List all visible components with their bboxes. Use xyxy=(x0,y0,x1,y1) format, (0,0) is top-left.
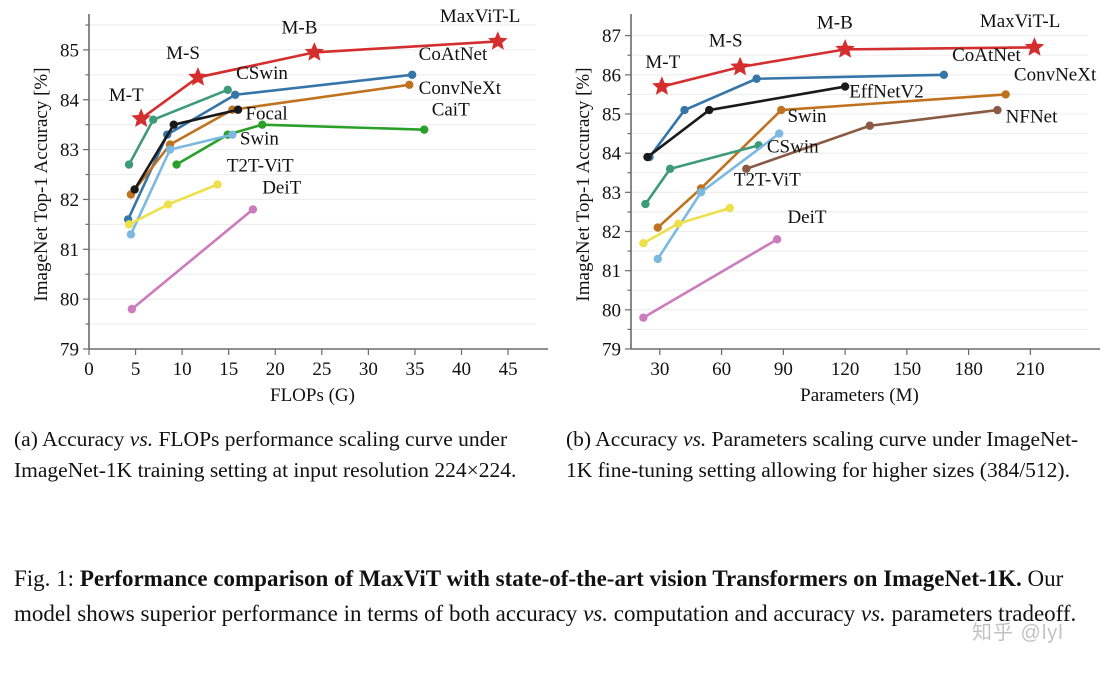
y-tick-label: 85 xyxy=(60,40,79,61)
data-point[interactable] xyxy=(641,200,649,208)
x-tick-label: 0 xyxy=(84,359,94,380)
series-line xyxy=(177,125,425,165)
chart-panel-a: 79808182838485051015202530354045FLOPs (G… xyxy=(0,0,558,410)
figure-caption-rest-3: parameters tradeoff. xyxy=(886,601,1077,626)
y-tick-label: 82 xyxy=(602,222,621,243)
series-annotation: Focal xyxy=(245,104,287,125)
series-annotation: DeiT xyxy=(787,207,826,228)
gridlines xyxy=(89,25,536,349)
y-axis-title: ImageNet Top-1 Accuracy [%] xyxy=(31,67,52,301)
data-point[interactable] xyxy=(705,106,713,114)
data-point[interactable] xyxy=(697,188,705,196)
series-line xyxy=(658,134,779,259)
y-tick-label: 81 xyxy=(60,240,79,261)
data-point-star[interactable] xyxy=(837,40,854,56)
y-axis-title: ImageNet Top-1 Accuracy [%] xyxy=(573,67,594,301)
x-tick-label: 60 xyxy=(712,359,731,380)
data-point[interactable] xyxy=(777,106,785,114)
series-annotation: DeiT xyxy=(262,177,301,198)
series-annotation: CaiT xyxy=(432,100,470,121)
data-point[interactable] xyxy=(773,235,781,243)
series-t2t-vit[interactable] xyxy=(125,180,222,228)
chart-panel-b: 798081828384858687306090120150180210Para… xyxy=(552,0,1110,410)
subcaption-a: (a) Accuracy vs. FLOPs performance scali… xyxy=(14,424,544,485)
data-point[interactable] xyxy=(680,106,688,114)
series-deit[interactable] xyxy=(639,235,781,322)
data-point-star[interactable] xyxy=(732,58,749,74)
data-point-star[interactable] xyxy=(306,43,323,59)
x-tick-label: 25 xyxy=(312,359,331,380)
y-tick-label: 82 xyxy=(60,190,79,211)
y-tick-label: 79 xyxy=(602,340,621,361)
x-axis-title: Parameters (M) xyxy=(800,385,919,406)
subcaption-b: (b) Accuracy vs. Parameters scaling curv… xyxy=(566,424,1096,485)
data-point[interactable] xyxy=(224,86,232,94)
data-point[interactable] xyxy=(127,230,135,238)
y-tick-label: 83 xyxy=(602,183,621,204)
figure-caption: Fig. 1: Performance comparison of MaxViT… xyxy=(14,562,1100,631)
y-tick-label: 84 xyxy=(60,90,80,111)
x-tick-label: 120 xyxy=(831,359,860,380)
data-point[interactable] xyxy=(993,106,1001,114)
figure-root: 79808182838485051015202530354045FLOPs (G… xyxy=(0,0,1110,698)
data-point-star[interactable] xyxy=(133,110,150,126)
x-tick-label: 150 xyxy=(893,359,922,380)
series-annotation: EffNetV2 xyxy=(849,82,924,103)
data-point[interactable] xyxy=(420,125,428,133)
subcaption-a-text-1: Accuracy xyxy=(38,427,130,451)
data-point[interactable] xyxy=(128,305,136,313)
data-point[interactable] xyxy=(726,204,734,212)
data-point[interactable] xyxy=(643,153,651,161)
series-annotation: NFNet xyxy=(1006,107,1058,128)
x-axis-title: FLOPs (G) xyxy=(270,385,355,406)
y-tick-label: 81 xyxy=(602,261,621,282)
series-annotation: CoAtNet xyxy=(952,45,1021,66)
subcaption-b-text-1: Accuracy xyxy=(591,427,683,451)
x-tick-label: 90 xyxy=(774,359,793,380)
x-tick-label: 35 xyxy=(405,359,424,380)
data-point[interactable] xyxy=(666,165,674,173)
x-tick-label: 5 xyxy=(131,359,141,380)
x-tick-label: 45 xyxy=(499,359,518,380)
data-point[interactable] xyxy=(405,81,413,89)
series-annotation: CSwin xyxy=(236,63,288,84)
data-point[interactable] xyxy=(752,75,760,83)
data-point[interactable] xyxy=(149,115,157,123)
series-deit[interactable] xyxy=(128,205,257,313)
series-annotation: M-S xyxy=(709,31,743,52)
series-annotation: MaxViT-L xyxy=(980,11,1060,32)
figure-caption-rest-2: computation and accuracy xyxy=(608,601,861,626)
data-point[interactable] xyxy=(170,120,178,128)
series-t2t-vit[interactable] xyxy=(639,204,734,248)
data-point[interactable] xyxy=(164,200,172,208)
series-annotation: ConvNeXt xyxy=(1014,64,1097,85)
series-annotation: M-T xyxy=(109,85,144,106)
figure-caption-bold: Performance comparison of MaxViT with st… xyxy=(80,566,1022,591)
series-annotation: ConvNeXt xyxy=(419,78,502,99)
y-tick-label: 84 xyxy=(602,144,622,165)
x-tick-label: 15 xyxy=(219,359,238,380)
data-point[interactable] xyxy=(866,122,874,130)
data-point[interactable] xyxy=(654,255,662,263)
data-point[interactable] xyxy=(639,239,647,247)
y-tick-label: 80 xyxy=(60,290,79,311)
data-point[interactable] xyxy=(213,180,221,188)
x-tick-label: 40 xyxy=(452,359,471,380)
y-tick-label: 87 xyxy=(602,26,621,47)
series-annotation: CoAtNet xyxy=(419,44,488,65)
data-point[interactable] xyxy=(166,145,174,153)
data-point-star[interactable] xyxy=(1026,38,1043,54)
data-point[interactable] xyxy=(654,223,662,231)
data-point[interactable] xyxy=(841,82,849,90)
series-annotation: M-T xyxy=(645,52,680,73)
accuracy-vs-flops-chart: 79808182838485051015202530354045FLOPs (G… xyxy=(0,0,558,410)
data-point[interactable] xyxy=(1001,90,1009,98)
y-tick-label: 86 xyxy=(602,65,621,86)
y-tick-label: 83 xyxy=(60,140,79,161)
subcaption-b-label: (b) xyxy=(566,427,591,451)
series-annotation: M-S xyxy=(166,43,200,64)
subcaption-a-label: (a) xyxy=(14,427,38,451)
series-annotation: M-B xyxy=(817,13,853,34)
x-tick-label: 210 xyxy=(1016,359,1045,380)
accuracy-vs-parameters-chart: 798081828384858687306090120150180210Para… xyxy=(552,0,1110,410)
data-point[interactable] xyxy=(639,313,647,321)
figure-caption-prefix: Fig. 1: xyxy=(14,566,74,591)
figure-caption-vs-1: vs. xyxy=(583,601,608,626)
series-annotation: MaxViT-L xyxy=(440,6,520,27)
series-annotation: Swin xyxy=(787,106,827,127)
x-tick-label: 20 xyxy=(266,359,285,380)
data-point[interactable] xyxy=(234,106,242,114)
series-annotation: Swin xyxy=(240,129,280,150)
y-tick-label: 80 xyxy=(602,300,621,321)
series-annotation: T2T-ViT xyxy=(227,156,294,177)
subcaption-a-vs: vs. xyxy=(130,427,153,451)
data-point[interactable] xyxy=(228,130,236,138)
x-tick-label: 10 xyxy=(173,359,192,380)
x-tick-label: 30 xyxy=(359,359,378,380)
data-point[interactable] xyxy=(125,220,133,228)
data-point[interactable] xyxy=(408,71,416,79)
series-cait[interactable] xyxy=(172,120,428,168)
series-annotation: T2T-ViT xyxy=(734,169,801,190)
data-point-star[interactable] xyxy=(653,78,670,94)
data-point[interactable] xyxy=(940,71,948,79)
subcaption-b-vs: vs. xyxy=(683,427,706,451)
x-tick-label: 30 xyxy=(650,359,669,380)
series-annotation: CSwin xyxy=(767,136,819,157)
data-point[interactable] xyxy=(231,91,239,99)
x-tick-label: 180 xyxy=(954,359,983,380)
data-point[interactable] xyxy=(172,160,180,168)
data-point[interactable] xyxy=(130,185,138,193)
data-point[interactable] xyxy=(674,219,682,227)
series-annotation: M-B xyxy=(282,17,318,38)
y-tick-label: 79 xyxy=(60,340,79,361)
data-point[interactable] xyxy=(125,160,133,168)
data-point-star[interactable] xyxy=(489,32,506,48)
series-swin[interactable] xyxy=(654,129,784,263)
figure-caption-vs-2: vs. xyxy=(861,601,886,626)
y-tick-label: 85 xyxy=(602,105,621,126)
data-point[interactable] xyxy=(249,205,257,213)
